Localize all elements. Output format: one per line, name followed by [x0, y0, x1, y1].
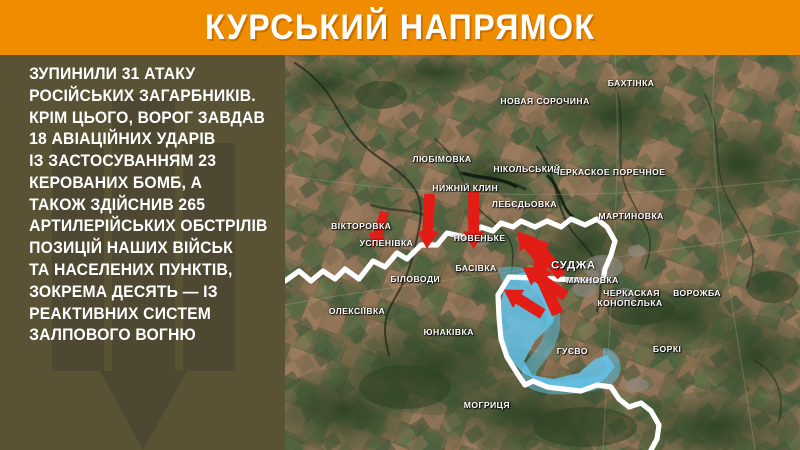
arrow-nyzhniy-icon [416, 194, 440, 250]
satellite-map[interactable]: БАХТІНКАНОВАЯ СОРОЧИНАЛЮБІМОВКАНІКОЛЬСЬК… [285, 55, 800, 450]
page-title: КУРСЬКИЙ НАПРЯМОК [205, 10, 595, 45]
arrow-novenke-icon [463, 191, 484, 249]
screenshot-root: КУРСЬКИЙ НАПРЯМОК Зупинили 31 атаку росі… [0, 0, 800, 450]
header-banner: КУРСЬКИЙ НАПРЯМОК [0, 0, 800, 55]
report-text: Зупинили 31 атаку російських загарбників… [0, 55, 276, 347]
info-panel: Зупинили 31 атаку російських загарбників… [0, 55, 285, 450]
